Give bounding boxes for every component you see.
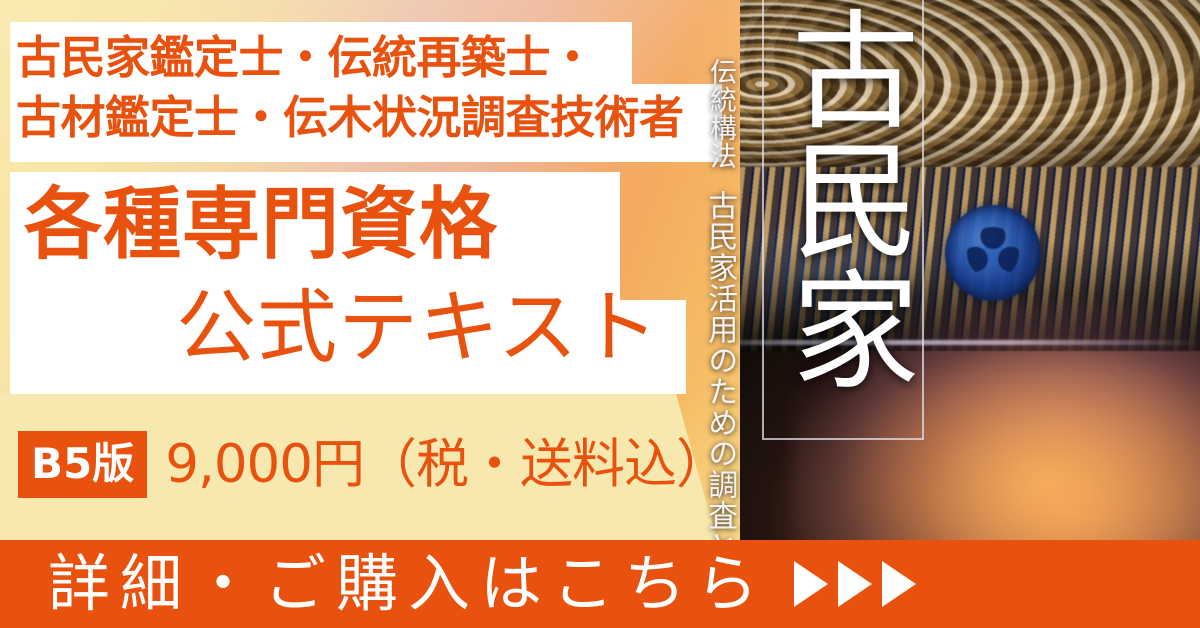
- qualifications-text: 古民家鑑定士・伝統再築士・ 古材鑑定士・伝木状況調査技術者: [16, 22, 722, 162]
- triple-right-arrow-icon: [794, 561, 916, 607]
- right-arrow-icon: [838, 561, 872, 607]
- size-badge: B5版: [18, 431, 147, 498]
- right-arrow-icon: [794, 561, 828, 607]
- price-amount: 9,000円（税・送料込）: [165, 438, 728, 491]
- cta-button[interactable]: 詳細・ご購入はこちら: [0, 540, 1200, 628]
- cta-label: 詳細・ご購入はこちら: [48, 553, 768, 615]
- headline-line-2: 公式テキスト: [176, 288, 660, 368]
- headline-line-1: 各種専門資格: [24, 186, 498, 264]
- book-cover-title: 古民家: [772, 4, 912, 434]
- promo-banner: 古民家 伝統構法 古民家活用のための調査と再生の 古民家鑑定士・伝統再築士・ 古…: [0, 0, 1200, 628]
- price-row: B5版 9,000円（税・送料込）: [18, 428, 728, 500]
- family-crest-medallion-icon: [945, 205, 1041, 301]
- right-arrow-icon: [882, 561, 916, 607]
- book-cover-subtitle-line-1: 伝統構法: [704, 58, 736, 170]
